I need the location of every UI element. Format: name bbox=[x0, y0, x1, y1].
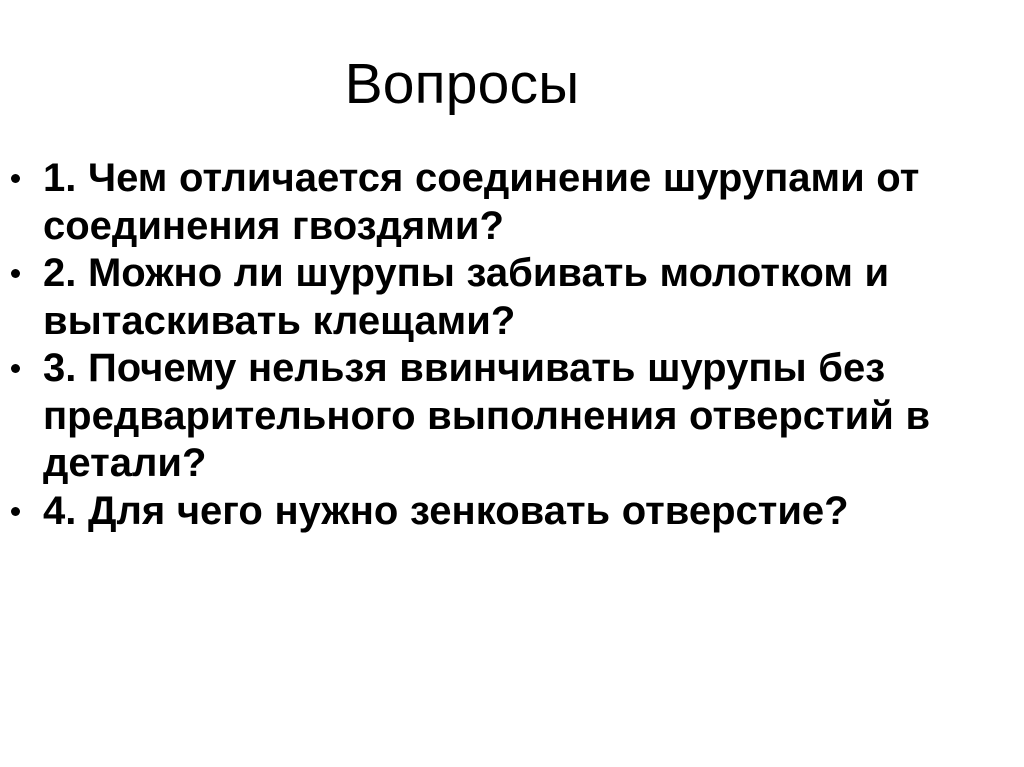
list-item: 2. Можно ли шурупы забивать молотком и в… bbox=[0, 250, 960, 345]
questions-list: 1. Чем отличается соединение шурупами от… bbox=[0, 155, 960, 535]
list-item: 1. Чем отличается соединение шурупами от… bbox=[0, 155, 960, 250]
list-item-label: 3. Почему нельзя ввинчивать шурупы без п… bbox=[43, 345, 960, 488]
list-item-label: 1. Чем отличается соединение шурупами от… bbox=[43, 155, 960, 250]
bullet-icon bbox=[11, 345, 20, 393]
list-item-label: 2. Можно ли шурупы забивать молотком и в… bbox=[43, 250, 960, 345]
bullet-icon bbox=[11, 488, 20, 536]
slide: Вопросы 1. Чем отличается соединение шур… bbox=[0, 0, 1024, 767]
bullet-icon bbox=[11, 155, 20, 203]
list-item: 4. Для чего нужно зенковать отверстие? bbox=[0, 488, 960, 536]
page-title: Вопросы bbox=[0, 52, 924, 116]
bullet-icon bbox=[11, 250, 20, 298]
list-item-label: 4. Для чего нужно зенковать отверстие? bbox=[43, 488, 960, 536]
list-item: 3. Почему нельзя ввинчивать шурупы без п… bbox=[0, 345, 960, 488]
